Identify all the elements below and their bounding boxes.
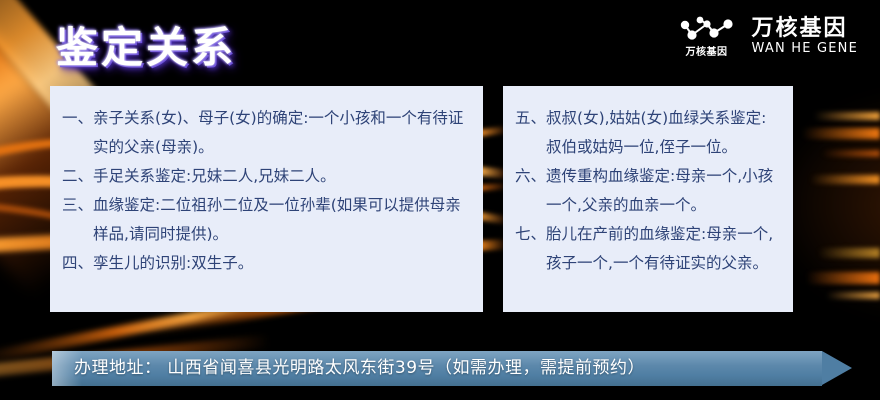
address-text: 办理地址： 山西省闻喜县光明路太风东街39号（如需办理，需提前预约） — [74, 351, 645, 386]
orange-streak-right-5 — [818, 248, 880, 258]
list-item-number: 三、 — [62, 191, 93, 220]
list-item: 三、 血缘鉴定:二位祖孙二位及一位孙辈(如果可以提供母亲样品,请同时提供)。 — [62, 191, 469, 249]
orange-streak-right-3 — [822, 150, 880, 157]
list-item-text: 手足关系鉴定:兄妹二人,兄妹二人。 — [93, 162, 469, 191]
brand-logo: 万核基因 万核基因 WAN HE GENE — [678, 16, 858, 58]
page-title: 鉴定关系 — [56, 14, 236, 75]
services-panel-left: 一、 亲子关系(女)、母子(女)的确定:一个小孩和一个有待证实的父亲(母亲)。 … — [50, 86, 483, 312]
brand-name-en: WAN HE GENE — [752, 41, 858, 57]
list-item-text: 叔叔(女),姑姑(女)血绿关系鉴定:叔伯或姑妈一位,侄子一位。 — [546, 104, 779, 162]
list-item-text: 胎儿在产前的血缘鉴定:母亲一个,孩子一个,一个有待证实的父亲。 — [546, 220, 779, 278]
list-item-text: 遗传重构血缘鉴定:母亲一个,小孩一个,父亲的血亲一个。 — [546, 162, 779, 220]
list-item-number: 二、 — [62, 162, 93, 191]
orange-streak-right-7 — [826, 292, 880, 299]
orange-streak-right-4 — [810, 175, 880, 184]
logo-caption: 万核基因 — [686, 48, 728, 58]
orange-streak-right-2 — [802, 128, 880, 139]
list-item: 一、 亲子关系(女)、母子(女)的确定:一个小孩和一个有待证实的父亲(母亲)。 — [62, 104, 469, 162]
list-item-text: 亲子关系(女)、母子(女)的确定:一个小孩和一个有待证实的父亲(母亲)。 — [93, 104, 469, 162]
address-banner: 办理地址： 山西省闻喜县光明路太风东街39号（如需办理，需提前预约） — [52, 351, 852, 386]
list-item-text: 孪生儿的识别:双生子。 — [93, 249, 469, 278]
brand-text-block: 万核基因 WAN HE GENE — [752, 17, 858, 57]
list-item-number: 六、 — [515, 162, 546, 191]
orange-streak-right-6 — [806, 272, 880, 284]
list-item: 五、 叔叔(女),姑姑(女)血绿关系鉴定:叔伯或姑妈一位,侄子一位。 — [515, 104, 779, 162]
address-banner-arrow-tip — [822, 351, 852, 385]
orange-streak-right-1 — [814, 112, 880, 120]
list-item: 四、 孪生儿的识别:双生子。 — [62, 249, 469, 278]
slide-root: 鉴定关系 万核基因 万核基因 WAN HE GENE — [0, 0, 880, 400]
molecule-network-icon — [678, 16, 736, 46]
logo-mark: 万核基因 — [678, 16, 736, 58]
list-item-number: 五、 — [515, 104, 546, 133]
list-item-number: 四、 — [62, 249, 93, 278]
brand-name-cn: 万核基因 — [752, 17, 858, 41]
list-item-number: 七、 — [515, 220, 546, 249]
list-item: 二、 手足关系鉴定:兄妹二人,兄妹二人。 — [62, 162, 469, 191]
list-item: 六、 遗传重构血缘鉴定:母亲一个,小孩一个,父亲的血亲一个。 — [515, 162, 779, 220]
list-item: 七、 胎儿在产前的血缘鉴定:母亲一个,孩子一个,一个有待证实的父亲。 — [515, 220, 779, 278]
services-panel-right: 五、 叔叔(女),姑姑(女)血绿关系鉴定:叔伯或姑妈一位,侄子一位。 六、 遗传… — [503, 86, 793, 312]
list-item-text: 血缘鉴定:二位祖孙二位及一位孙辈(如果可以提供母亲样品,请同时提供)。 — [93, 191, 469, 249]
list-item-number: 一、 — [62, 104, 93, 133]
